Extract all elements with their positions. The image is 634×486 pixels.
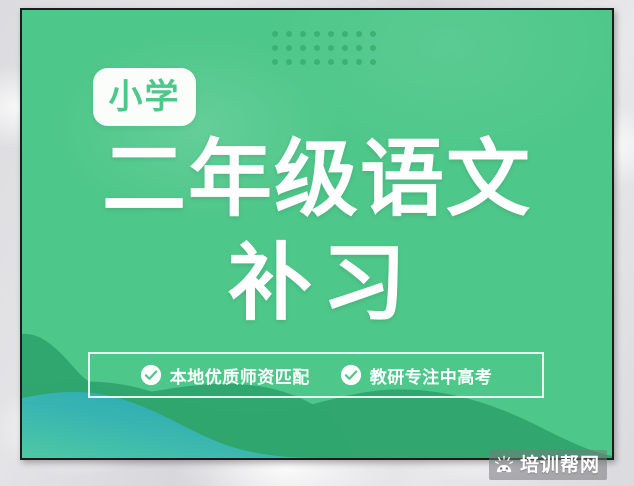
check-circle-icon [340, 364, 362, 386]
dot [342, 59, 348, 65]
feature-list: 本地优质师资匹配 教研专注中高考 [88, 352, 544, 398]
dot [370, 31, 376, 37]
dot [300, 31, 306, 37]
dot [370, 45, 376, 51]
dot [342, 31, 348, 37]
dot [328, 45, 334, 51]
sun-face-icon [494, 455, 514, 475]
dot [356, 59, 362, 65]
dot [272, 45, 278, 51]
dot [272, 31, 278, 37]
feature-item-2-label: 教研专注中高考 [370, 363, 493, 388]
check-circle-icon [140, 364, 162, 386]
level-badge: 小学 [93, 68, 196, 126]
dot [328, 59, 334, 65]
dot [314, 45, 320, 51]
watermark-text: 培训帮网 [520, 456, 600, 475]
headline-line-1: 二年级语文 [22, 137, 612, 221]
headline-line-2: 补习 [22, 241, 612, 325]
dot [286, 59, 292, 65]
dot [314, 31, 320, 37]
dot-grid-pattern [272, 31, 384, 67]
level-badge-label: 小学 [109, 80, 181, 114]
poster-page: 小学 二年级语文 补习 本地优质师资匹配 教研专注中高考 [0, 0, 634, 486]
feature-item-1-label: 本地优质师资匹配 [170, 363, 310, 388]
dot [286, 31, 292, 37]
dot [356, 45, 362, 51]
dot [300, 45, 306, 51]
dot [370, 59, 376, 65]
feature-item-2: 教研专注中高考 [340, 363, 493, 388]
watermark: 培训帮网 [489, 450, 607, 480]
dot [286, 45, 292, 51]
dot [272, 59, 278, 65]
feature-item-1: 本地优质师资匹配 [140, 363, 310, 388]
dot [300, 59, 306, 65]
dot [328, 31, 334, 37]
dot [356, 31, 362, 37]
dot [342, 45, 348, 51]
poster-card: 小学 二年级语文 补习 本地优质师资匹配 教研专注中高考 [22, 10, 612, 458]
dot [314, 59, 320, 65]
